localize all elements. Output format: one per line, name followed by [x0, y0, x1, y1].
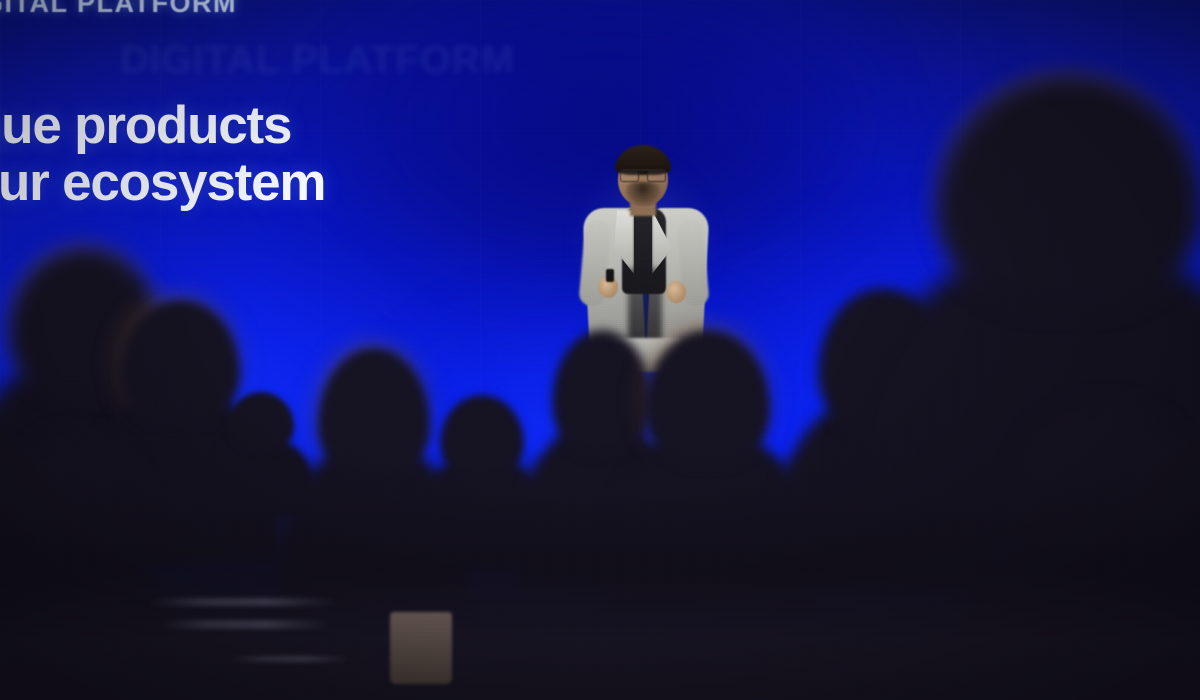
- head-left-small: [228, 392, 294, 452]
- drink-cup: [390, 612, 452, 684]
- seat-back-edge-2: [160, 620, 330, 629]
- conference-photo-scene: DIGITAL PLATFORM GITAL PLATFORM que prod…: [0, 0, 1200, 700]
- seat-back-edge-1: [148, 598, 338, 606]
- foreground-darkness-lower: [0, 570, 1200, 700]
- seat-back-edge-3: [230, 656, 350, 662]
